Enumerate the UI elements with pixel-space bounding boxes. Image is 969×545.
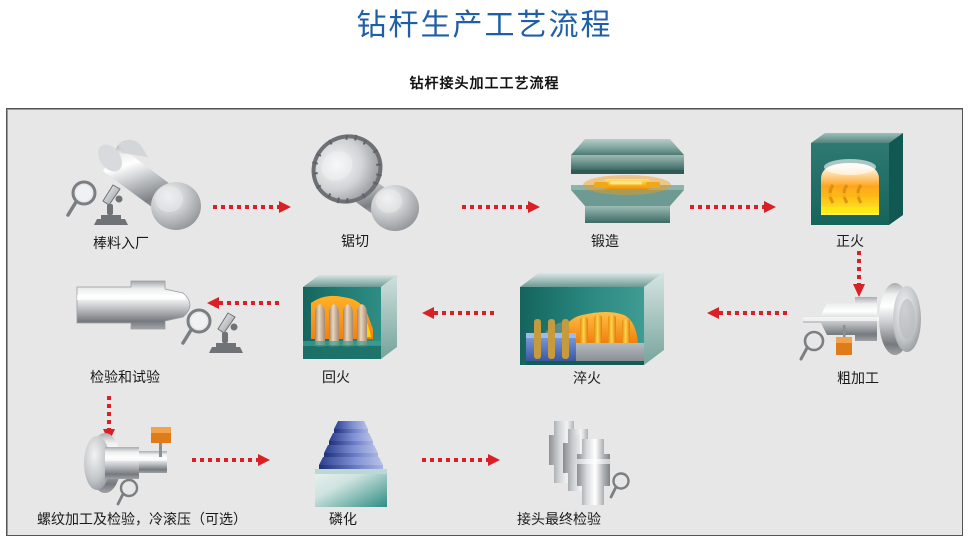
forging-press-dies-icon [552, 127, 712, 237]
machined-joint-with-inspection-icon [65, 269, 265, 374]
lathe-rough-machining-icon [795, 267, 955, 372]
finished-joints-inspection-icon [536, 417, 682, 509]
connector-arrow-left [207, 297, 287, 309]
flow-step-inspection-and-testing[interactable]: 检验和试验 [65, 269, 265, 399]
flow-step-label: 正火 [836, 233, 864, 251]
connector-arrow-left [422, 307, 502, 319]
connector-arrow-right [690, 201, 780, 213]
flow-step-label: 淬火 [573, 370, 601, 388]
flow-step-tempering[interactable]: 回火 [295, 269, 445, 399]
flow-step-final-inspection[interactable]: 接头最终检验 [512, 417, 682, 537]
process-flow-panel: 棒料入厂 [6, 108, 963, 536]
connector-arrow-left [707, 307, 792, 319]
flow-step-quenching[interactable]: 淬火 [512, 267, 712, 399]
connector-arrow-right [213, 201, 293, 213]
flow-step-thread-machining[interactable]: 螺纹加工及检验，冷滚压（可选） [37, 417, 297, 537]
flow-step-label: 回火 [322, 369, 350, 387]
flow-step-label: 接头最终检验 [517, 511, 601, 529]
connector-arrow-right [192, 454, 272, 466]
flow-step-bar-stock-intake[interactable]: 棒料入厂 [62, 129, 252, 259]
flow-step-rough-machining[interactable]: 粗加工 [795, 267, 955, 399]
flow-step-normalizing[interactable]: 正火 [797, 127, 937, 259]
flow-step-label: 检验和试验 [90, 369, 160, 387]
connector-arrow-right [422, 454, 502, 466]
flow-step-label: 螺纹加工及检验，冷滚压（可选） [37, 511, 247, 529]
flow-step-label: 锻造 [591, 233, 619, 251]
flow-step-sawing[interactable]: 锯切 [303, 127, 463, 259]
flow-step-forging[interactable]: 锻造 [552, 127, 712, 259]
flow-step-phosphating[interactable]: 磷化 [302, 417, 452, 537]
bar-stock-with-inspection-icon [62, 129, 252, 239]
page-title: 钻杆生产工艺流程 [0, 4, 969, 48]
flow-step-label: 锯切 [341, 233, 369, 251]
page-subtitle: 钻杆接头加工工艺流程 [0, 74, 969, 94]
flow-step-label: 粗加工 [837, 370, 879, 388]
quenching-furnace-icon [512, 267, 712, 372]
saw-blade-cutting-bar-icon [303, 127, 463, 237]
normalizing-furnace-icon [797, 127, 937, 237]
flow-step-label: 棒料入厂 [93, 235, 149, 253]
tempering-furnace-icon [295, 269, 445, 369]
flow-step-label: 磷化 [329, 511, 357, 529]
connector-arrow-right [462, 201, 542, 213]
